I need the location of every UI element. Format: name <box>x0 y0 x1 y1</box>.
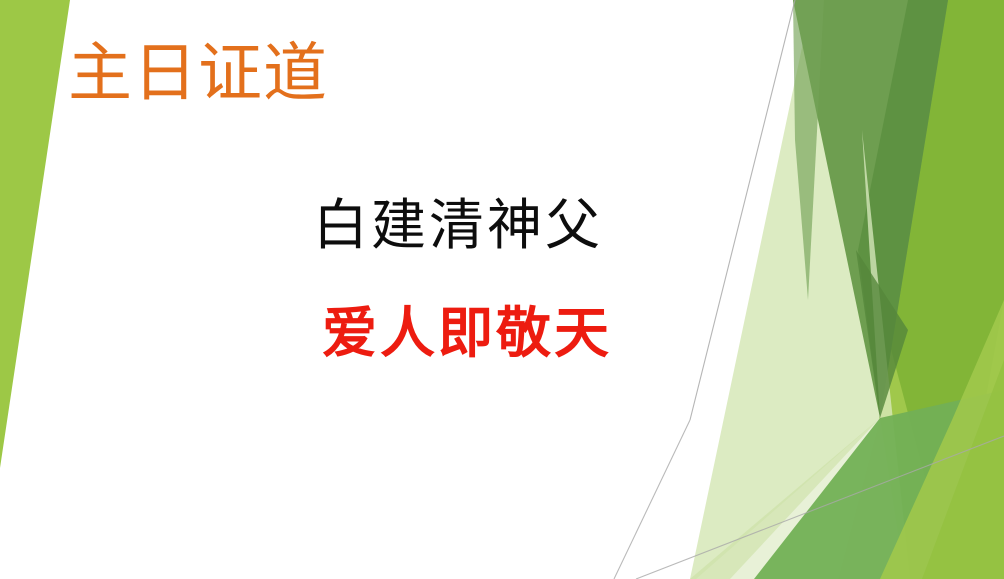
slide-title: 主日证道 <box>68 38 328 112</box>
slide-text-layer: 主日证道 白建清神父 爱人即敬天 <box>0 0 1004 579</box>
sermon-theme: 爱人即敬天 <box>322 300 612 366</box>
speaker-name: 白建清神父 <box>313 192 603 258</box>
presentation-slide: 主日证道 白建清神父 爱人即敬天 <box>0 0 1004 579</box>
